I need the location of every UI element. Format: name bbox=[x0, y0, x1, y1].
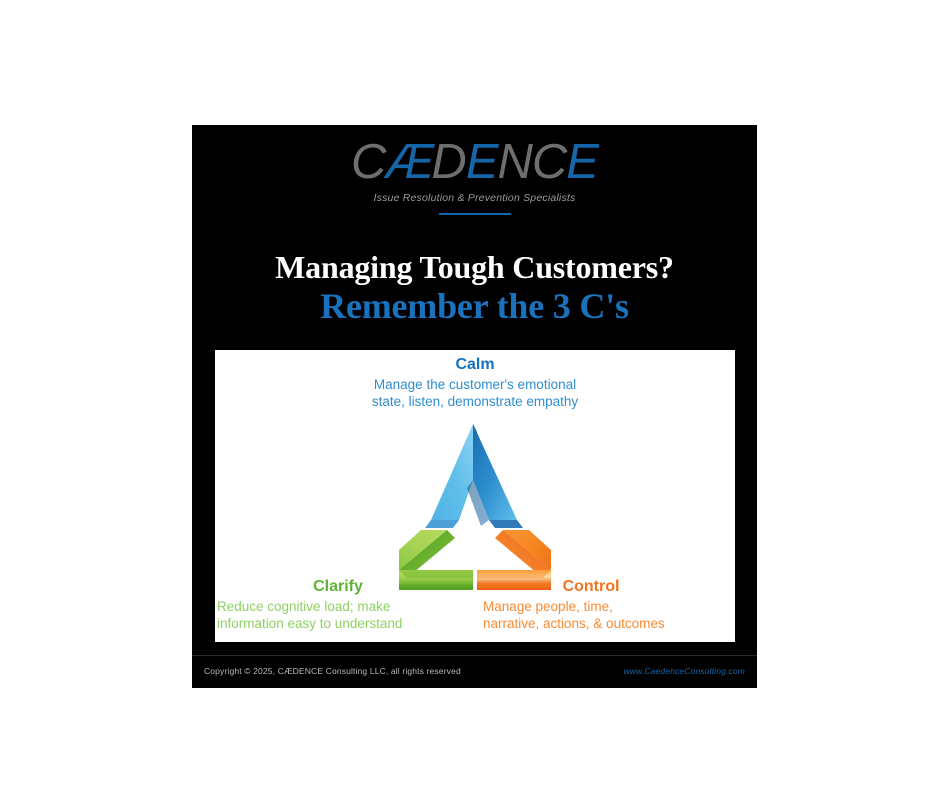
three-cs-triangle-graphic bbox=[369, 418, 581, 590]
brand-tagline: Issue Resolution & Prevention Specialist… bbox=[192, 193, 757, 204]
diagram-node-calm: Calm Manage the customer's emotional sta… bbox=[215, 356, 735, 410]
wordmark-letter-c1: C bbox=[351, 135, 385, 189]
headline-block: Managing Tough Customers? Remember the 3… bbox=[192, 250, 757, 326]
node-clarify-description: Reduce cognitive load; make information … bbox=[217, 598, 465, 633]
website-link[interactable]: www.CaedenceConsulting.com bbox=[623, 666, 745, 676]
copyright-text: Copyright © 2025, CÆDENCE Consulting LLC… bbox=[204, 666, 461, 676]
headline-line-1: Managing Tough Customers? bbox=[192, 250, 757, 285]
brand-block: CÆDENCE Issue Resolution & Prevention Sp… bbox=[192, 138, 757, 215]
wordmark-letter-n: N bbox=[498, 135, 532, 189]
diagram-node-control: Control Manage people, time, narrative, … bbox=[483, 578, 735, 632]
node-clarify-label: Clarify bbox=[217, 578, 465, 596]
triangle-arm-calm bbox=[425, 424, 523, 528]
node-calm-label: Calm bbox=[215, 356, 735, 374]
footer-block: Copyright © 2025, CÆDENCE Consulting LLC… bbox=[192, 657, 757, 688]
brand-rule-divider bbox=[439, 213, 511, 216]
node-control-label: Control bbox=[483, 578, 735, 596]
diagram-inner: Calm Manage the customer's emotional sta… bbox=[215, 350, 735, 642]
diagram-card: Calm Manage the customer's emotional sta… bbox=[215, 350, 735, 642]
node-control-description: Manage people, time, narrative, actions,… bbox=[483, 598, 735, 633]
headline-line-2: Remember the 3 C's bbox=[192, 286, 757, 326]
footer-divider bbox=[192, 655, 757, 656]
wordmark-letter-e2: E bbox=[566, 135, 598, 189]
diagram-node-clarify: Clarify Reduce cognitive load; make info… bbox=[217, 578, 465, 632]
poster-panel: CÆDENCE Issue Resolution & Prevention Sp… bbox=[192, 125, 757, 688]
wordmark-letter-ae: Æ bbox=[385, 135, 429, 189]
wordmark-letter-e1: E bbox=[466, 135, 498, 189]
caedence-logo-wordmark: CÆDENCE bbox=[351, 138, 598, 187]
wordmark-letter-d: D bbox=[431, 135, 465, 189]
wordmark-letter-c2: C bbox=[532, 135, 566, 189]
node-calm-description: Manage the customer's emotional state, l… bbox=[215, 376, 735, 411]
